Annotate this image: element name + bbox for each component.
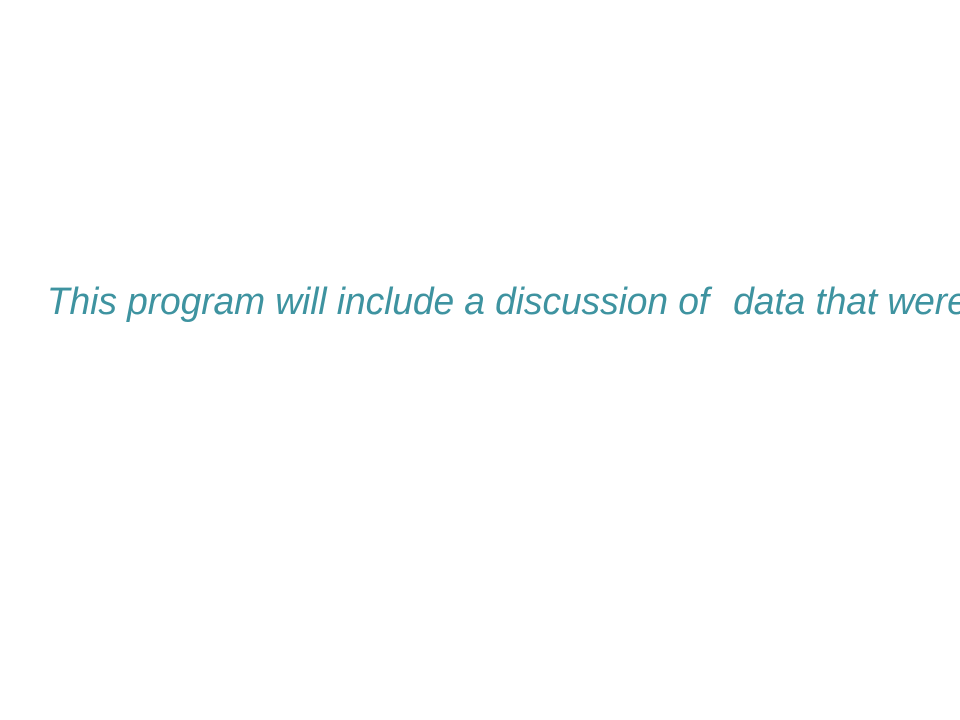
disclaimer-line-2: data that were presented in abstract for… [734, 276, 960, 328]
disclaimer-text-block: This program will include a discussion o… [40, 276, 920, 328]
slide-canvas: This program will include a discussion o… [0, 0, 960, 720]
disclaimer-line-1: This program will include a discussion o… [47, 276, 709, 328]
